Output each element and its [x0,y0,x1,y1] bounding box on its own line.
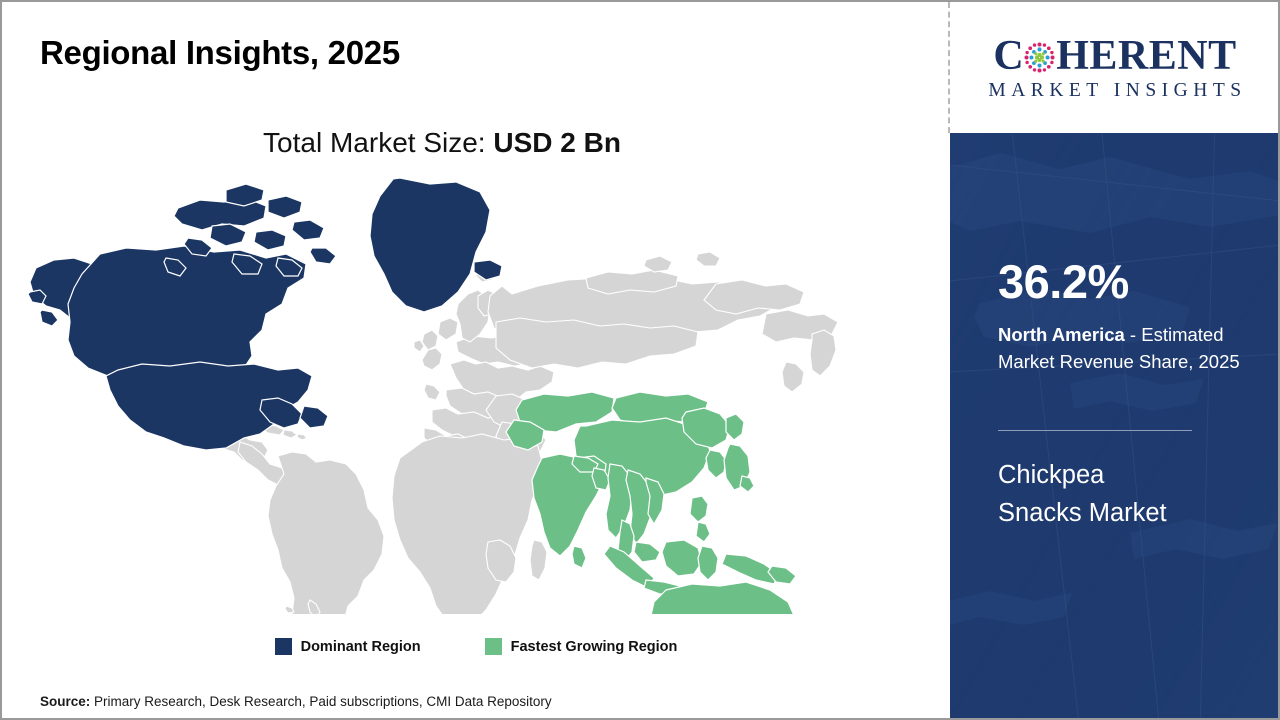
map-dominant-region [28,178,502,450]
market-title-line1: Chickpea [998,461,1104,489]
legend-item-dominant: Dominant Region [275,638,421,655]
map-legend: Dominant Region Fastest Growing Region [2,638,950,655]
stat-caption: North America - Estimated Market Revenue… [998,321,1262,375]
brand-logo-wordmark: C [993,33,1236,79]
market-title-line2: Snacks Market [998,499,1167,527]
total-market-size: Total Market Size: USD 2 Bn [2,127,882,159]
stats-content: 36.2% North America - Estimated Market R… [998,133,1266,718]
market-size-value: USD 2 Bn [493,127,621,158]
right-panel: C [950,2,1280,718]
stat-percentage: 36.2% [998,258,1129,305]
legend-item-fastest-growing: Fastest Growing Region [485,638,678,655]
market-size-label: Total Market Size: [263,127,486,158]
market-title: Chickpea Snacks Market [998,457,1262,532]
source-note: Source: Primary Research, Desk Research,… [40,694,552,709]
left-panel: Regional Insights, 2025 Total Market Siz… [2,2,950,718]
legend-label-dominant: Dominant Region [301,639,421,655]
source-label: Source: [40,694,90,709]
brand-letters-rest: HERENT [1056,35,1236,77]
brand-letter-c: C [993,35,1024,77]
legend-swatch-green-icon [485,638,502,655]
legend-label-fastest-growing: Fastest Growing Region [511,639,678,655]
stat-region-name: North America [998,324,1125,345]
stat-divider [998,430,1192,431]
map-fastest-growing-region [506,392,840,614]
legend-swatch-navy-icon [275,638,292,655]
page-title: Regional Insights, 2025 [40,34,400,72]
brand-logo: C [950,2,1280,133]
world-map [26,174,866,614]
infographic-canvas: Regional Insights, 2025 Total Market Siz… [0,0,1280,720]
stats-panel: 36.2% North America - Estimated Market R… [950,133,1280,718]
source-text: Primary Research, Desk Research, Paid su… [90,694,551,709]
globe-dot-sphere-icon [1024,42,1055,73]
brand-tagline: MARKET INSIGHTS [983,80,1246,102]
